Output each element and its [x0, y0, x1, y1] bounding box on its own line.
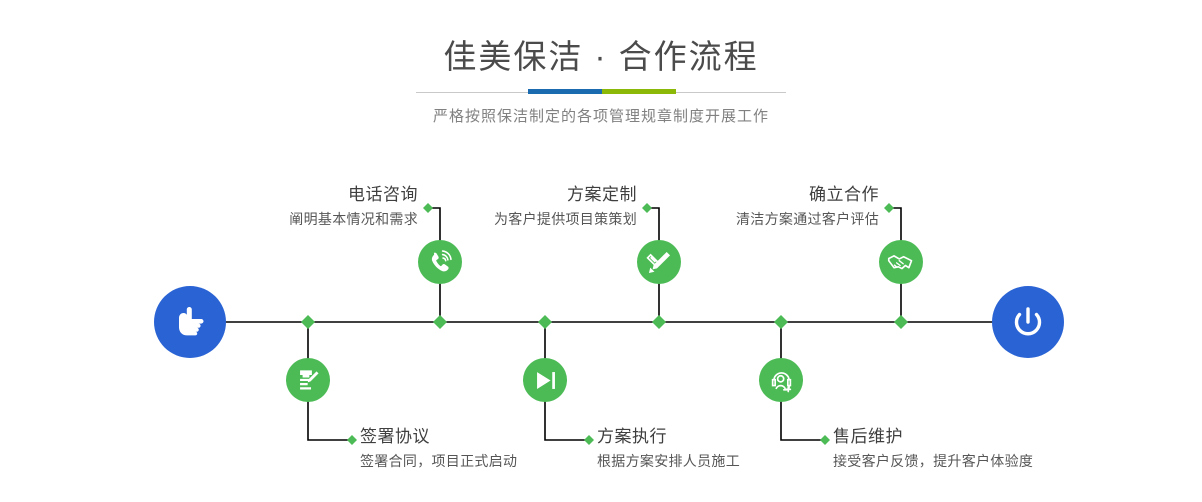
process-flow-diagram: 电话咨询 阐明基本情况和需求 方案定制 为客户提供项目策策划 确立合作 清洁方案… — [0, 0, 1202, 502]
step-3-title: 方案定制 — [380, 185, 637, 205]
step-1-desc: 阐明基本情况和需求 — [150, 209, 418, 229]
play-forward-icon — [532, 367, 559, 394]
step-5-desc: 清洁方案通过客户评估 — [630, 209, 879, 229]
step-5-label: 确立合作 清洁方案通过客户评估 — [630, 185, 879, 229]
step-1-title: 电话咨询 — [150, 185, 418, 205]
start-node[interactable] — [154, 286, 226, 358]
step-3-icon-node[interactable] — [637, 240, 681, 284]
label-diamond-2 — [347, 435, 357, 445]
phone-icon — [426, 248, 454, 276]
timeline-diamond-2 — [433, 315, 447, 329]
step-6-label: 售后维护 接受客户反馈，提升客户体验度 — [833, 427, 1153, 471]
timeline-diamond-5 — [774, 315, 788, 329]
power-icon — [1008, 302, 1048, 342]
step-6-icon-node[interactable] — [759, 358, 803, 402]
step-5-title: 确立合作 — [630, 185, 879, 205]
step-4-icon-node[interactable] — [523, 358, 567, 402]
label-diamonds — [347, 203, 894, 445]
step-1-icon-node[interactable] — [418, 240, 462, 284]
timeline-diamond-6 — [894, 315, 908, 329]
timeline-diamond-1 — [301, 315, 315, 329]
label-diamond-5 — [884, 203, 894, 213]
step-6-desc: 接受客户反馈，提升客户体验度 — [833, 451, 1153, 471]
step-6-title: 售后维护 — [833, 427, 1153, 447]
timeline-diamond-3 — [538, 315, 552, 329]
handshake-icon — [887, 248, 915, 276]
step-3-desc: 为客户提供项目策策划 — [380, 209, 637, 229]
timeline-diamond-4 — [652, 315, 666, 329]
step-3-label: 方案定制 为客户提供项目策策划 — [380, 185, 637, 229]
end-node[interactable] — [992, 286, 1064, 358]
headset-support-icon — [768, 367, 795, 394]
pencil-ruler-icon — [646, 249, 673, 276]
step-1-label: 电话咨询 阐明基本情况和需求 — [150, 185, 418, 229]
pointing-hand-icon — [170, 302, 210, 342]
step-5-icon-node[interactable] — [879, 240, 923, 284]
document-edit-icon — [295, 367, 322, 394]
step-2-icon-node[interactable] — [286, 358, 330, 402]
